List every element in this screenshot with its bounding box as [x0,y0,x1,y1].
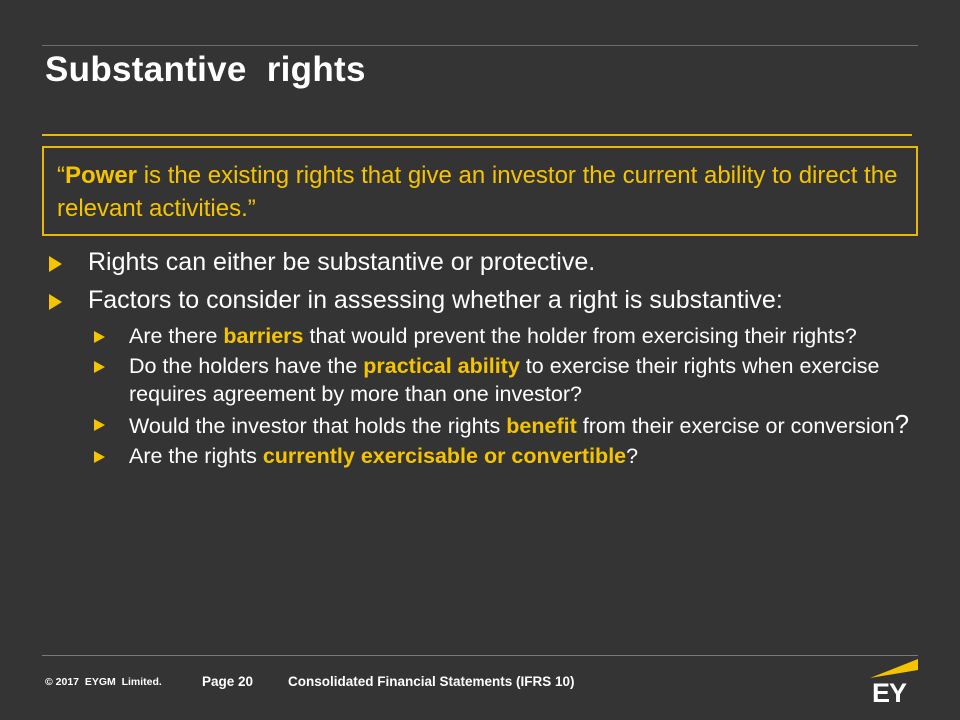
list-item: Do the holders have the practical abilit… [42,352,932,408]
triangle-bullet-icon [49,256,62,272]
copyright-text: © 2017 EYGM Limited. [45,676,162,688]
triangle-bullet-icon [94,361,105,373]
list-item: Rights can either be substantive or prot… [42,246,932,278]
bullet-text-pre: Would the investor that holds the rights [129,414,506,438]
bullet-text-pre: Are there [129,324,223,348]
quote-open-mark: “ [57,162,65,189]
ey-logo: EY [866,657,928,707]
bullet-text-tail: ? [895,409,909,439]
triangle-bullet-icon [94,419,105,431]
quote-text: is the existing rights that give an inve… [57,162,897,222]
page-title: Substantive rights [45,48,925,92]
list-item: Are there barriers that would prevent th… [42,322,932,350]
bullet-highlight: benefit [506,414,576,438]
footer-document-title: Consolidated Financial Statements (IFRS … [288,674,575,689]
ey-beam-icon [870,659,918,678]
bullet-text-pre: Are the rights [129,444,263,468]
list-item: Would the investor that holds the rights… [42,410,932,440]
bullet-text-post: ? [626,444,638,468]
bullet-text: Rights can either be substantive or prot… [88,248,595,276]
bullet-text-post: that would prevent the holder from exerc… [304,324,857,348]
bullet-highlight: currently exercisable or convertible [263,444,626,468]
bullet-highlight: barriers [223,324,303,348]
triangle-bullet-icon [49,294,62,310]
header-divider [42,45,918,46]
triangle-bullet-icon [94,331,105,343]
list-item: Factors to consider in assessing whether… [42,284,932,316]
definition-quote-box: “Power is the existing rights that give … [42,146,918,236]
footer-divider [42,655,918,656]
list-item: Are the rights currently exercisable or … [42,442,932,470]
bullet-highlight: practical ability [363,354,520,378]
bullet-list: Rights can either be substantive or prot… [42,246,932,470]
triangle-bullet-icon [94,451,105,463]
slide: Substantive rights “Power is the existin… [0,0,960,720]
quote-bold-word: Power [65,162,137,189]
quote-top-divider [42,134,912,136]
bullet-text: Factors to consider in assessing whether… [88,286,783,314]
page-number: Page 20 [202,674,253,689]
bullet-text-post: from their exercise or conversion [577,414,895,438]
svg-text:EY: EY [872,678,907,707]
bullet-text-pre: Do the holders have the [129,354,363,378]
